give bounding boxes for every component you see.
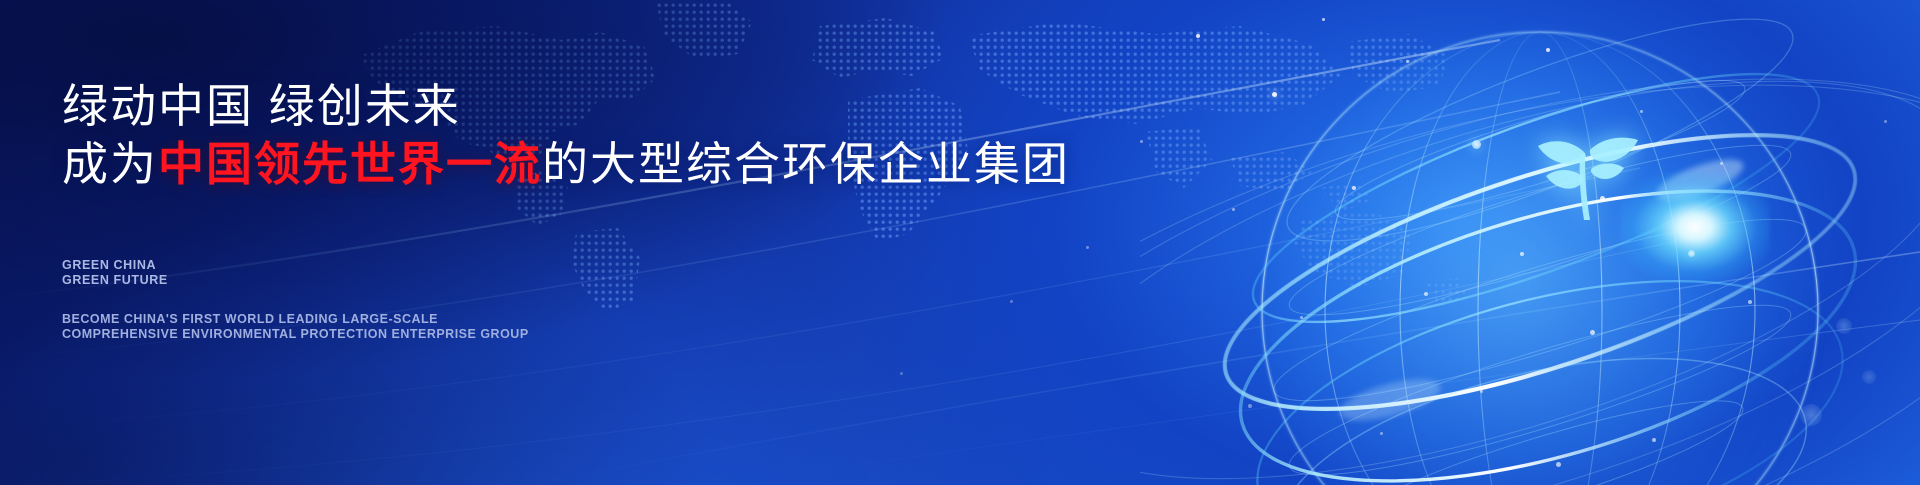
english-slogan-line-1: GREEN CHINA — [62, 258, 168, 273]
hero-banner: 绿动中国 绿创未来 成为中国领先世界一流的大型综合环保企业集团 GREEN CH… — [0, 0, 1920, 485]
headline-line-2: 成为中国领先世界一流的大型综合环保企业集团 — [62, 136, 1070, 192]
headline-suffix: 的大型综合环保企业集团 — [542, 138, 1070, 190]
wireframe-globe-graphic — [1140, 0, 1920, 485]
copy-block: 绿动中国 绿创未来 成为中国领先世界一流的大型综合环保企业集团 GREEN CH… — [62, 0, 1062, 485]
english-mission-line-1: BECOME CHINA'S FIRST WORLD LEADING LARGE… — [62, 312, 529, 327]
english-slogan: GREEN CHINA GREEN FUTURE — [62, 258, 168, 288]
english-mission-line-2: COMPREHENSIVE ENVIRONMENTAL PROTECTION E… — [62, 327, 529, 342]
headline-prefix: 成为 — [62, 138, 158, 190]
english-mission: BECOME CHINA'S FIRST WORLD LEADING LARGE… — [62, 312, 529, 342]
headline: 绿动中国 绿创未来 成为中国领先世界一流的大型综合环保企业集团 — [62, 78, 1070, 192]
globe-core-glow — [1620, 172, 1770, 282]
headline-highlight: 中国领先世界一流 — [158, 138, 542, 190]
english-slogan-line-2: GREEN FUTURE — [62, 273, 168, 288]
headline-line-1: 绿动中国 绿创未来 — [62, 78, 1070, 134]
